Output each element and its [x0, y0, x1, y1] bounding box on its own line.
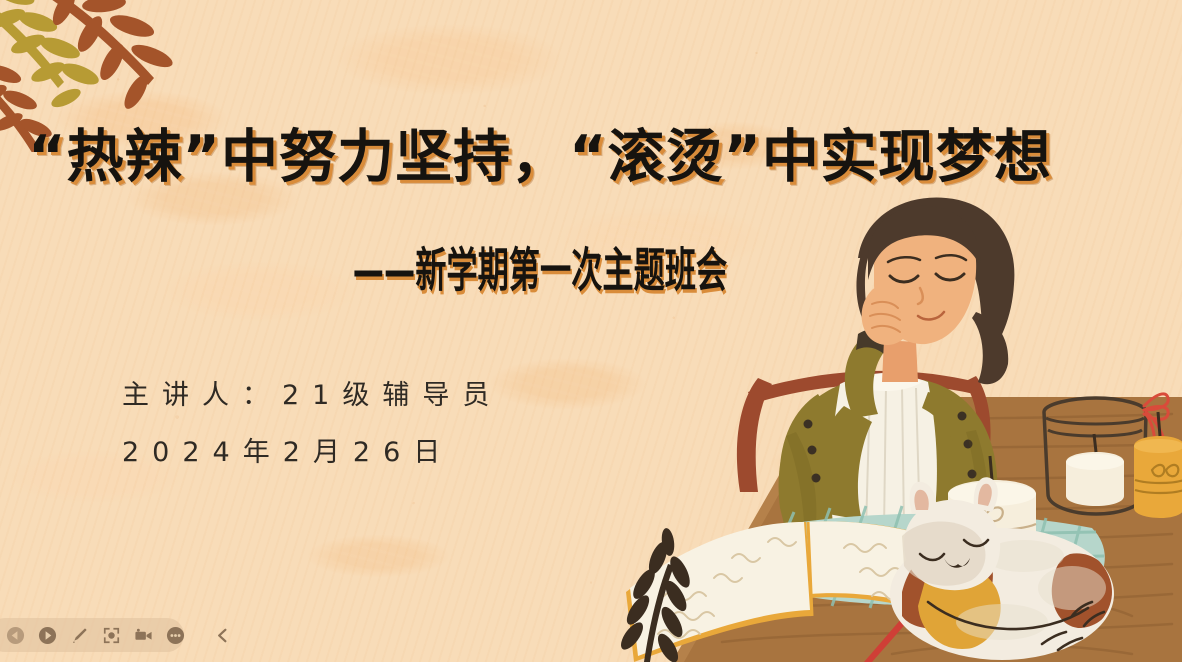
collapse-left-icon[interactable]	[213, 626, 232, 645]
play-slide-icon[interactable]	[38, 626, 57, 645]
presenter-line: 主讲人：21级辅导员	[122, 368, 502, 425]
illustration-woman-reading-at-desk	[572, 192, 1182, 662]
slide-meta-block: 主讲人：21级辅导员 2024年2月26日	[122, 368, 502, 481]
slide-title: “热辣”中努力坚持，“滚烫”中实现梦想	[0, 128, 1080, 186]
laser-pointer-icon[interactable]	[102, 626, 121, 645]
pen-icon[interactable]	[70, 626, 89, 645]
rust-branch	[26, 0, 176, 112]
presentation-slide: “热辣”中努力坚持，“滚烫”中实现梦想 ——新学期第一次主题班会 主讲人：21级…	[0, 0, 1182, 662]
more-options-icon[interactable]	[166, 626, 185, 645]
date-line: 2024年2月26日	[122, 425, 502, 482]
previous-slide-icon[interactable]	[6, 626, 25, 645]
presentation-toolbar[interactable]	[0, 618, 184, 652]
video-record-icon[interactable]	[134, 626, 153, 645]
